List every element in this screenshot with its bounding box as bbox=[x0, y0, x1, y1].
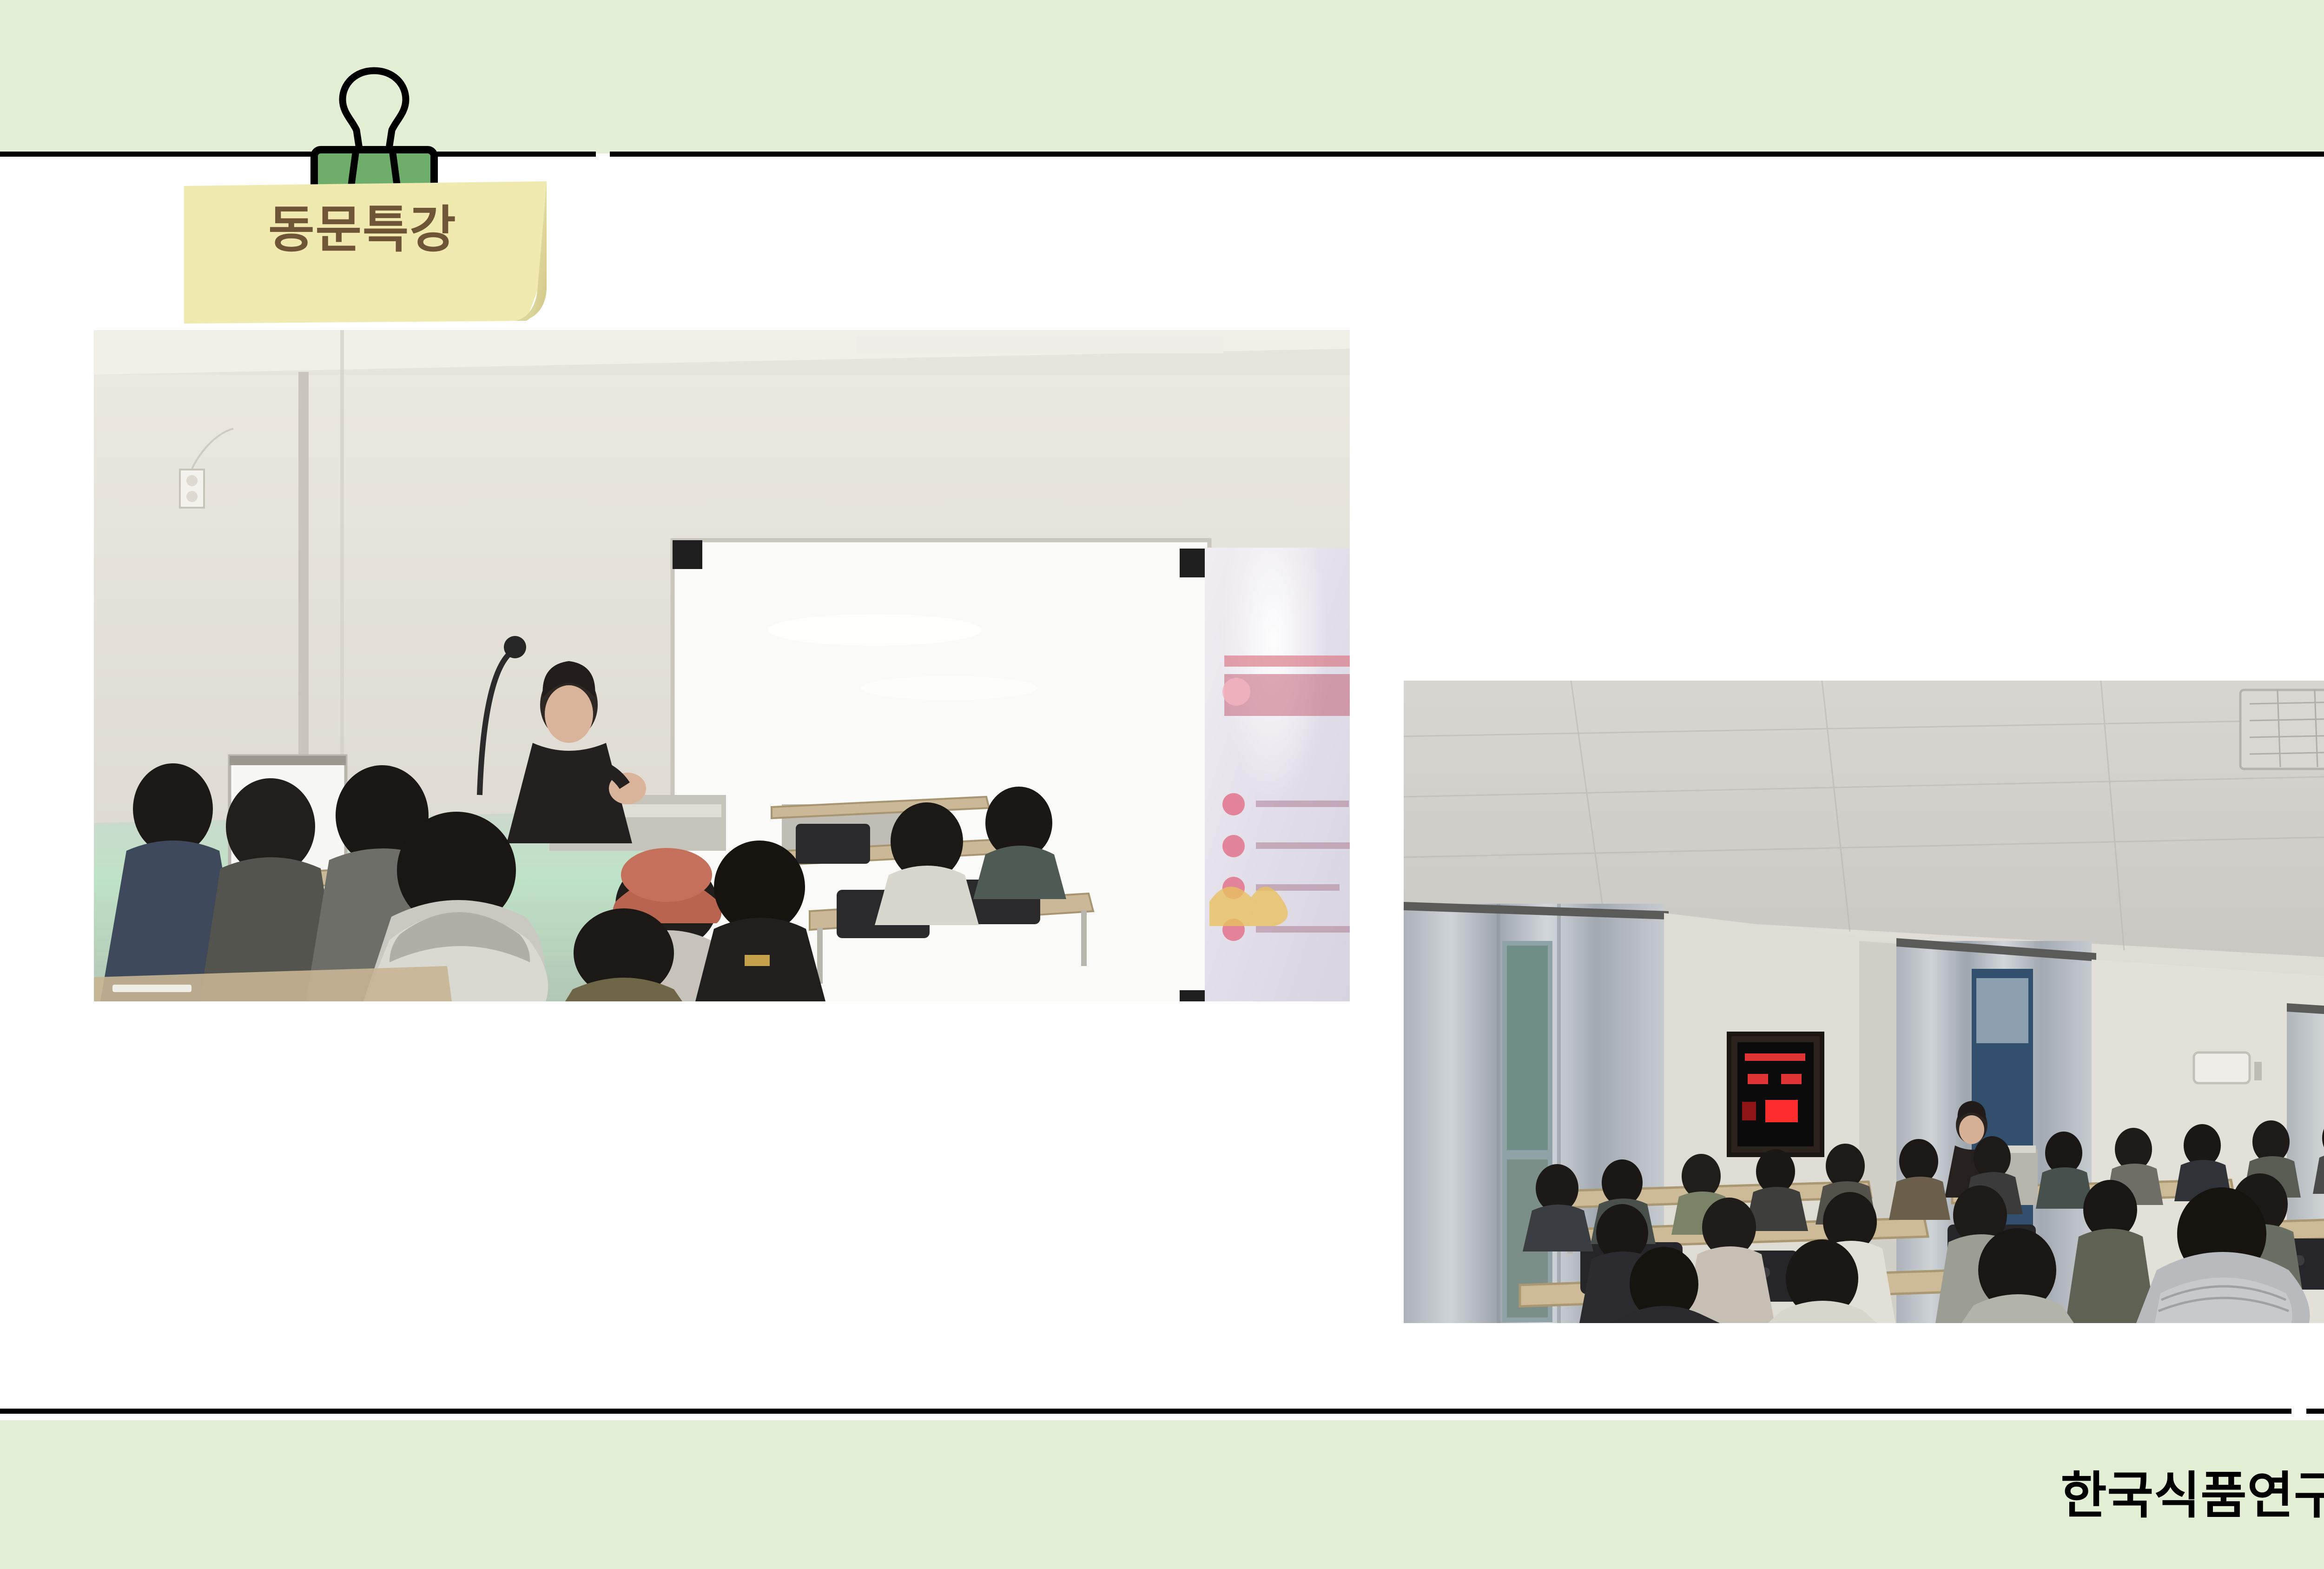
photo-lecture-front bbox=[94, 330, 1350, 1001]
photo-lecture-wide bbox=[1404, 681, 2324, 1323]
bottom-rule-segment-left bbox=[0, 1409, 2291, 1414]
top-rule-segment-right bbox=[610, 152, 2324, 157]
bottom-green-band bbox=[0, 1420, 2324, 1569]
sticky-note-label: 동문특강 bbox=[200, 205, 525, 255]
bottom-rule-segment-middle bbox=[2306, 1409, 2324, 1414]
footer-caption: 한국식품연구원 최정희 박사님 bbox=[2060, 1455, 2324, 1528]
